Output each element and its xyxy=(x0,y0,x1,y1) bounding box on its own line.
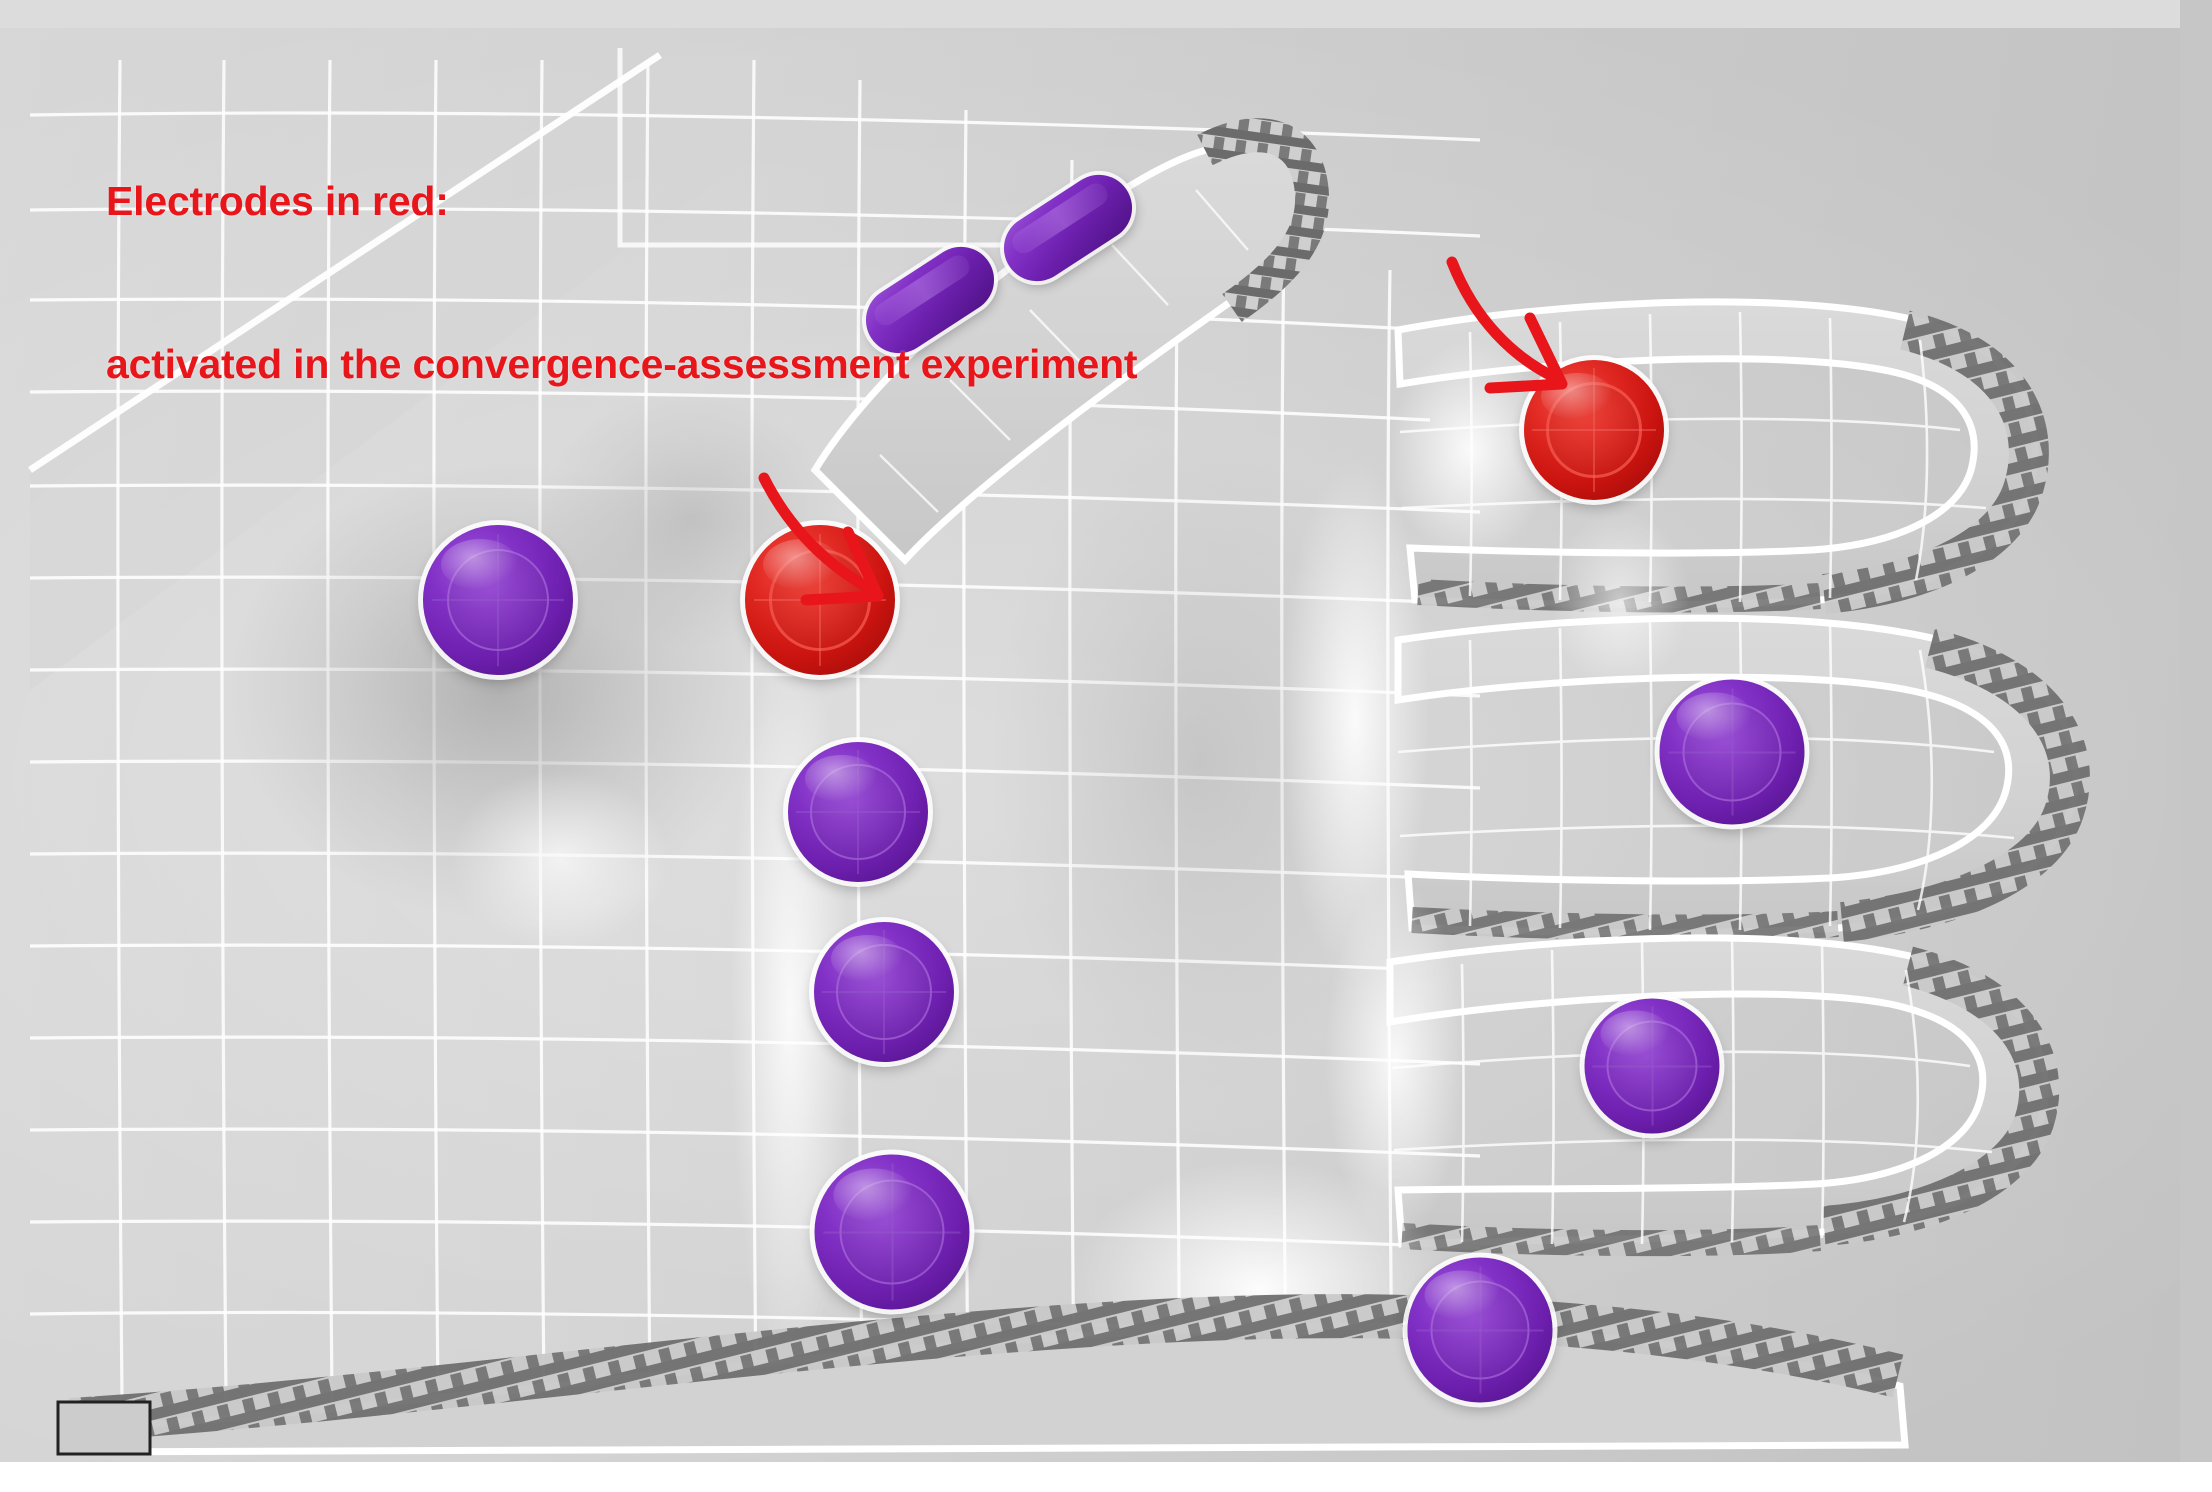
electrode-specular xyxy=(1425,1271,1500,1320)
electrode-index-mid[interactable] xyxy=(788,742,928,882)
electrode-body xyxy=(814,922,954,1062)
render-canvas: Electrodes in red: activated in the conv… xyxy=(0,0,2212,1492)
electrode-body xyxy=(1660,680,1805,825)
electrode-ring-finger-activated[interactable] xyxy=(1524,360,1664,500)
electrode-crosshair-horizontal xyxy=(1416,1329,1544,1331)
electrode-body xyxy=(815,1155,970,1310)
electrode-crosshair-horizontal xyxy=(754,599,886,601)
electrode-index-proximal-activated[interactable] xyxy=(745,525,895,675)
electrode-body xyxy=(1524,360,1664,500)
electrode-little-finger[interactable] xyxy=(1585,999,1720,1134)
electrode-wrist[interactable] xyxy=(1408,1258,1553,1403)
annotation-line-1: Electrodes in red: xyxy=(106,174,1137,228)
electrode-specular xyxy=(441,539,519,590)
electrode-crosshair-horizontal xyxy=(1593,1065,1712,1067)
electrode-crosshair-horizontal xyxy=(1668,751,1796,753)
electrode-specular xyxy=(805,755,878,803)
annotation-text: Electrodes in red: activated in the conv… xyxy=(106,66,1137,499)
electrode-body xyxy=(1585,999,1720,1134)
electrode-specular xyxy=(1541,373,1614,421)
electrode-crosshair-horizontal xyxy=(822,991,945,993)
electrode-specular xyxy=(833,1168,914,1221)
electrode-specular xyxy=(831,935,904,983)
electrode-palm-lower[interactable] xyxy=(815,1155,970,1310)
electrode-body xyxy=(423,525,573,675)
electrode-crosshair-horizontal xyxy=(796,811,919,813)
electrode-crosshair-horizontal xyxy=(432,599,564,601)
electrode-crosshair-horizontal xyxy=(1532,429,1655,431)
annotation-line-2: activated in the convergence-assessment … xyxy=(106,337,1137,391)
electrode-crosshair-horizontal xyxy=(824,1231,960,1233)
electrode-index-distal[interactable] xyxy=(814,922,954,1062)
electrode-body xyxy=(745,525,895,675)
electrode-middle-finger[interactable] xyxy=(1660,680,1805,825)
electrode-specular xyxy=(1601,1011,1671,1057)
electrode-specular xyxy=(1677,693,1752,742)
electrode-body xyxy=(1408,1258,1553,1403)
electrode-specular xyxy=(763,539,841,590)
electrode-body xyxy=(788,742,928,882)
electrode-thumb-pad[interactable] xyxy=(423,525,573,675)
